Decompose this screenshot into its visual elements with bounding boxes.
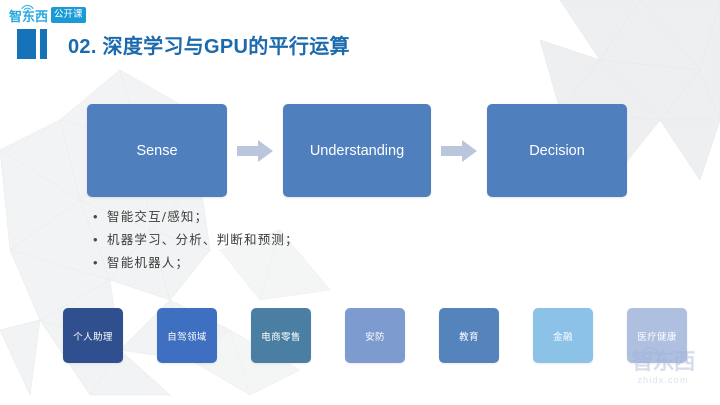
tag-box-security[interactable]: 安防 — [345, 308, 405, 363]
tag-box-label: 教育 — [459, 329, 479, 343]
flow-step-label: Decision — [529, 143, 585, 159]
list-item-label: 智能交互/感知； — [107, 206, 208, 225]
list-item-label: 机器学习、分析、判断和预测； — [107, 229, 299, 248]
tag-box-label: 金融 — [553, 329, 573, 343]
brand-logo-group: 智东西 公开课 — [9, 7, 86, 23]
flow-step-label: Understanding — [310, 143, 404, 159]
tag-box-autonomous-driving[interactable]: 自驾领域 — [157, 308, 217, 363]
page-title: 02. 深度学习与GPU的平行运算 — [68, 30, 350, 59]
watermark-url: zhidx.com — [614, 375, 712, 385]
tag-spacer — [311, 308, 345, 363]
tag-box-finance[interactable]: 金融 — [533, 308, 593, 363]
tag-spacer — [405, 308, 439, 363]
arrow-understanding-to-decision — [431, 140, 487, 162]
tag-box-education[interactable]: 教育 — [439, 308, 499, 363]
list-item: • 智能机器人； — [93, 252, 513, 275]
tag-box-ecommerce-retail[interactable]: 电商零售 — [251, 308, 311, 363]
application-tag-row: 个人助理 自驾领域 电商零售 安防 教育 金融 医疗健康 — [63, 308, 688, 363]
tag-box-label: 电商零售 — [261, 329, 301, 343]
tag-spacer — [123, 308, 157, 363]
tag-spacer — [499, 308, 533, 363]
right-arrow-icon — [237, 140, 273, 162]
flow-step-sense[interactable]: Sense — [87, 104, 227, 197]
list-item-label: 智能机器人； — [107, 252, 189, 271]
wifi-arc-icon — [21, 3, 34, 10]
tag-box-label: 医疗健康 — [637, 329, 677, 343]
flow-step-label: Sense — [136, 143, 177, 159]
tag-box-personal-assistant[interactable]: 个人助理 — [63, 308, 123, 363]
slide-canvas: 智东西 公开课 02. 深度学习与GPU的平行运算 Sense Understa… — [0, 0, 720, 405]
tag-box-label: 个人助理 — [73, 329, 113, 343]
slide-header: 智东西 公开课 02. 深度学习与GPU的平行运算 — [0, 0, 720, 70]
list-item: • 机器学习、分析、判断和预测； — [93, 229, 513, 252]
brand-badge: 公开课 — [51, 7, 86, 23]
tag-box-label: 自驾领域 — [167, 329, 207, 343]
flow-step-understanding[interactable]: Understanding — [283, 104, 431, 197]
arrow-sense-to-understanding — [227, 140, 283, 162]
bullet-marker-icon: • — [93, 233, 107, 246]
tag-box-label: 安防 — [365, 329, 385, 343]
accent-bar-wide — [17, 29, 36, 59]
list-item: • 智能交互/感知； — [93, 206, 513, 229]
right-arrow-icon — [441, 140, 477, 162]
tag-spacer — [217, 308, 251, 363]
bullet-list: • 智能交互/感知； • 机器学习、分析、判断和预测； • 智能机器人； — [93, 206, 513, 275]
bullet-marker-icon: • — [93, 210, 107, 223]
title-row: 02. 深度学习与GPU的平行运算 — [17, 28, 350, 60]
flow-step-decision[interactable]: Decision — [487, 104, 627, 197]
accent-bar-narrow — [40, 29, 47, 59]
bullet-marker-icon: • — [93, 256, 107, 269]
tag-spacer — [593, 308, 627, 363]
tag-box-medical-health[interactable]: 医疗健康 — [627, 308, 687, 363]
process-flow-diagram: Sense Understanding Decision — [87, 104, 627, 197]
